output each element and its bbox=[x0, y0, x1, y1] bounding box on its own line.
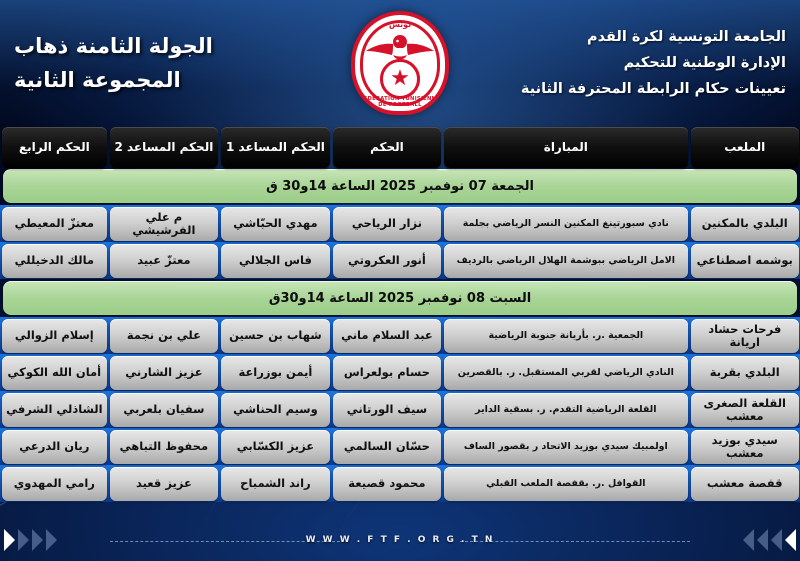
page-footer: W W W . F T F . O R G . T N bbox=[0, 505, 800, 561]
chevron-left-icon bbox=[743, 529, 754, 551]
cell-match: الجمعية .ر. بأريانة جنوبة الرياضية bbox=[444, 319, 688, 353]
footer-divider-right bbox=[460, 541, 690, 542]
assignments-subtitle: تعيينات حكام الرابطة المحترفة الثانية bbox=[486, 81, 786, 97]
refereeing-department: الإدارة الوطنية للتحكيم bbox=[486, 55, 786, 71]
federation-name: الجامعة التونسية لكرة القدم bbox=[486, 29, 786, 45]
round-titles: الجولة الثامنة ذهاب المجموعة الثانية bbox=[14, 34, 314, 92]
column-header-match: المباراة bbox=[444, 127, 688, 168]
cell-assistant2: م علي الفرشيشي bbox=[110, 207, 218, 241]
cell-fourth: أمان الله الكوكي bbox=[2, 356, 108, 390]
cell-assistant1: وسيم الحناشي bbox=[221, 393, 331, 427]
footer-chevrons-left bbox=[4, 529, 57, 551]
cell-match: القلعة الرياضية التقدم. ر. بسقية الداير bbox=[444, 393, 688, 427]
date-separator-row: الجمعة 07 نوفمبر 2025 الساعة 14و30 ق bbox=[3, 169, 797, 203]
chevron-right-icon bbox=[18, 529, 29, 551]
table-row[interactable]: قفصة معشبالقوافل .ر. بقفصة الملعب القبلي… bbox=[0, 465, 800, 502]
footer-chevrons-right bbox=[743, 529, 796, 551]
table-row[interactable]: سيدي بوزيد معشباولمبيك سيدي بوزيد الاتحا… bbox=[0, 428, 800, 465]
flag-disc: ★ bbox=[380, 59, 420, 99]
assignments-table: الملعبالمباراةالحكمالحكم المساعد 1الحكم … bbox=[0, 126, 800, 502]
cell-assistant1: فاس الجلالي bbox=[221, 244, 331, 278]
cell-assistant1: شهاب بن حسين bbox=[221, 319, 331, 353]
cell-referee: نزار الرياحي bbox=[333, 207, 441, 241]
chevron-left-icon bbox=[785, 529, 796, 551]
cell-stadium: البلدي بقربة bbox=[691, 356, 799, 390]
cell-stadium: فرحات حشاد اريانة bbox=[691, 319, 799, 353]
federation-titles: الجامعة التونسية لكرة القدم الإدارة الوط… bbox=[486, 29, 786, 97]
cell-match: القوافل .ر. بقفصة الملعب القبلي bbox=[444, 467, 688, 501]
cell-assistant1: راند الشمباح bbox=[221, 467, 331, 501]
cell-fourth: الشاذلي الشرفي bbox=[2, 393, 108, 427]
chevron-right-icon bbox=[4, 529, 15, 551]
cell-referee: سيف الورتاني bbox=[333, 393, 441, 427]
page-header: الجامعة التونسية لكرة القدم الإدارة الوط… bbox=[0, 0, 800, 126]
cell-stadium: قفصة معشب bbox=[691, 467, 799, 501]
table-header-row: الملعبالمباراةالحكمالحكم المساعد 1الحكم … bbox=[0, 126, 800, 167]
cell-assistant1: مهدي الحبّاشي bbox=[221, 207, 331, 241]
cell-fourth: مالك الدخيللي bbox=[2, 244, 108, 278]
cell-referee: محمود قصيعة bbox=[333, 467, 441, 501]
cell-match: النادي الرياضي لقربي المستقبل. ر. بالقصر… bbox=[444, 356, 688, 390]
chevron-right-icon bbox=[46, 529, 57, 551]
column-header-assistant2: الحكم المساعد 2 bbox=[110, 127, 218, 168]
cell-assistant2: عزيز قعيد bbox=[110, 467, 218, 501]
table-body: الجمعة 07 نوفمبر 2025 الساعة 14و30 قالبل… bbox=[0, 169, 800, 502]
cell-referee: عبد السلام ماني bbox=[333, 319, 441, 353]
page-background: الجامعة التونسية لكرة القدم الإدارة الوط… bbox=[0, 0, 800, 561]
cell-stadium: البلدي بالمكنين bbox=[691, 207, 799, 241]
cell-referee: أنور العكروتي bbox=[333, 244, 441, 278]
column-header-stadium: الملعب bbox=[691, 127, 799, 168]
round-title: الجولة الثامنة ذهاب bbox=[14, 34, 314, 58]
cell-fourth: رامي المهدوي bbox=[2, 467, 108, 501]
chevron-left-icon bbox=[757, 529, 768, 551]
cell-assistant2: معتزّ عبيد bbox=[110, 244, 218, 278]
cell-stadium: بوشمه اصطناعي bbox=[691, 244, 799, 278]
table-row[interactable]: البلدي بقربةالنادي الرياضي لقربي المستقب… bbox=[0, 354, 800, 391]
date-separator-row: السبت 08 نوفمبر 2025 الساعة 14و30ق bbox=[3, 281, 797, 315]
cell-assistant1: أيمن بوزراعة bbox=[221, 356, 331, 390]
table-row[interactable]: القلعة الصغرى معشبالقلعة الرياضية التقدم… bbox=[0, 391, 800, 428]
cell-stadium: القلعة الصغرى معشب bbox=[691, 393, 799, 427]
chevron-right-icon bbox=[32, 529, 43, 551]
cell-match: نادي سبورتينغ المكنين النسر الرياضي بجلم… bbox=[444, 207, 688, 241]
cell-match: الامل الرياضي ببوشمة الهلال الرياضي بالر… bbox=[444, 244, 688, 278]
footer-website-url[interactable]: W W W . F T F . O R G . T N bbox=[306, 535, 495, 545]
cell-assistant1: عزيز الكسّابي bbox=[221, 430, 331, 464]
group-title: المجموعة الثانية bbox=[14, 68, 314, 92]
cell-stadium: سيدي بوزيد معشب bbox=[691, 430, 799, 464]
chevron-left-icon bbox=[771, 529, 782, 551]
ftf-logo-badge: تونس ★ FEDERATION TUNISIENNE DE FOOTBALL bbox=[351, 11, 449, 115]
cell-referee: حسّان السالمي bbox=[333, 430, 441, 464]
column-header-referee: الحكم bbox=[333, 127, 441, 168]
logo-latin-text: FEDERATION TUNISIENNE DE FOOTBALL bbox=[355, 96, 445, 108]
cell-assistant2: عزيز الشارني bbox=[110, 356, 218, 390]
cell-assistant2: علي بن نجمة bbox=[110, 319, 218, 353]
cell-match: اولمبيك سيدي بوزيد الاتحاد ر بقصور الساف bbox=[444, 430, 688, 464]
table-row[interactable]: بوشمه اصطناعيالامل الرياضي ببوشمة الهلال… bbox=[0, 242, 800, 279]
logo-arabic-text: تونس bbox=[355, 20, 445, 29]
cell-assistant2: سفيان بلعربي bbox=[110, 393, 218, 427]
cell-assistant2: محفوظ التباهي bbox=[110, 430, 218, 464]
cell-fourth: ريان الدرعي bbox=[2, 430, 108, 464]
cell-referee: حسام بولعراس bbox=[333, 356, 441, 390]
star-icon: ★ bbox=[390, 68, 410, 90]
column-header-assistant1: الحكم المساعد 1 bbox=[221, 127, 331, 168]
ftf-logo: تونس ★ FEDERATION TUNISIENNE DE FOOTBALL bbox=[348, 8, 452, 118]
cell-fourth: إسلام الزوالي bbox=[2, 319, 108, 353]
table-row[interactable]: البلدي بالمكنيننادي سبورتينغ المكنين الن… bbox=[0, 205, 800, 242]
table-row[interactable]: فرحات حشاد اريانةالجمعية .ر. بأريانة جنو… bbox=[0, 317, 800, 354]
cell-fourth: معتزّ المعيطي bbox=[2, 207, 108, 241]
column-header-fourth: الحكم الرابع bbox=[2, 127, 108, 168]
